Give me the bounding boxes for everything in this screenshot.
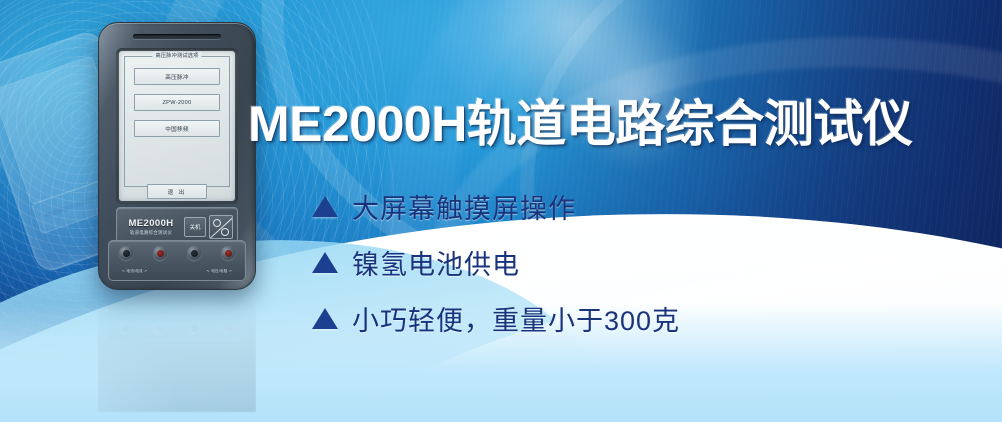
device-jack-bar: ↖ 电流/电流 ↗ ↖ 电压/电阻 ↗ [108,240,246,281]
device-lcd-header: 高压脉冲测试选项 [152,52,201,59]
device-reflection [98,292,256,422]
feature-list: 大屏幕触摸屏操作 镍氢电池供电 小巧轻便，重量小于300克 [312,178,680,346]
device-lcd-button-1[interactable]: 高压脉冲 [134,68,220,85]
banner-title: ME2000H轨道电路综合测试仪 [248,84,912,156]
device-lcd-button-2[interactable]: ZPW-2000 [134,94,220,111]
device-reflection-body [98,292,256,412]
device-jack-label-right: ↖ 电压/电阻 ↗ [207,269,232,274]
device-brand-block: ME2000H 轨道电路综合测试仪 [121,219,181,235]
jack-red-2[interactable] [221,246,235,260]
device-reflection-jacks [107,300,247,341]
device-lcd-button-3[interactable]: 中国移频 [134,120,220,137]
triangle-icon [312,308,338,329]
device-lcd-exit-button[interactable]: 退 出 [147,184,207,199]
device-lcd: 高压脉冲测试选项 高压脉冲 ZPW-2000 中国移频 退 出 [119,51,235,201]
feature-item-3-label: 小巧轻便，重量小于300克 [352,299,680,338]
device-brand-name: ME2000H [128,219,173,229]
jack-black-1-reflection [119,322,132,335]
product-banner: 高压脉冲测试选项 高压脉冲 ZPW-2000 中国移频 退 出 ME2000H … [0,0,1002,422]
feature-item-2: 镍氢电池供电 [312,234,680,290]
jack-black-1[interactable] [119,246,133,260]
feature-item-3: 小巧轻便，重量小于300克 [312,290,680,346]
feature-item-1-label: 大屏幕触摸屏操作 [352,187,576,226]
device-brand-subtitle: 轨道电路综合测试仪 [130,231,172,235]
feature-item-2-label: 镍氢电池供电 [352,243,520,282]
feature-item-1: 大屏幕触摸屏操作 [312,178,680,234]
product-device-image: 高压脉冲测试选项 高压脉冲 ZPW-2000 中国移频 退 出 ME2000H … [98,22,256,290]
device-top-slot [133,34,221,39]
signal-gear-icon [209,215,233,239]
triangle-icon [312,252,338,273]
device-body: 高压脉冲测试选项 高压脉冲 ZPW-2000 中国移频 退 出 ME2000H … [98,22,256,290]
jack-red-2-reflection [222,322,235,335]
device-lcd-groupbox: 高压脉冲测试选项 高压脉冲 ZPW-2000 中国移频 [124,56,230,187]
jack-red-1[interactable] [153,246,167,260]
triangle-icon [312,196,338,217]
jack-black-2[interactable] [187,246,201,260]
jack-red-1-reflection [153,322,166,335]
device-screen-bezel: 高压脉冲测试选项 高压脉冲 ZPW-2000 中国移频 退 出 [116,48,238,204]
device-power-off-button[interactable]: 关机 [184,217,206,237]
jack-black-2-reflection [188,322,201,335]
device-jack-label-left: ↖ 电流/电流 ↗ [122,269,147,274]
